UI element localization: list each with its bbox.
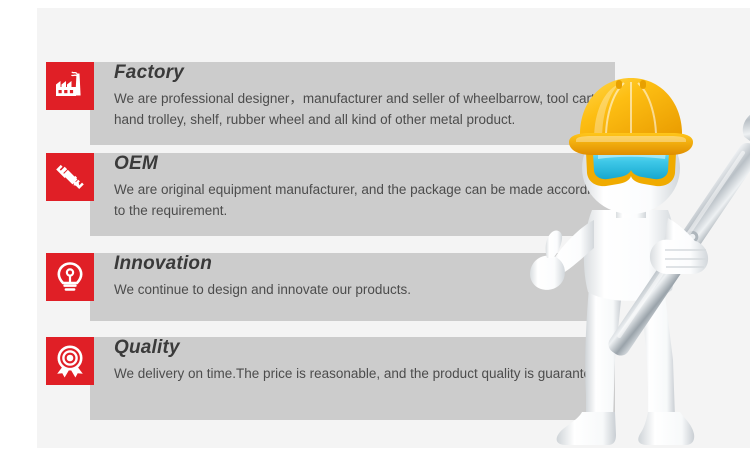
promo-banner: Factory We are professional designer，man… (0, 0, 750, 466)
factory-icon (46, 62, 94, 110)
pencil-wrench-icon (46, 153, 94, 201)
lightbulb-icon (46, 253, 94, 301)
construction-worker-mascot (520, 60, 750, 460)
award-ribbon-icon (46, 337, 94, 385)
